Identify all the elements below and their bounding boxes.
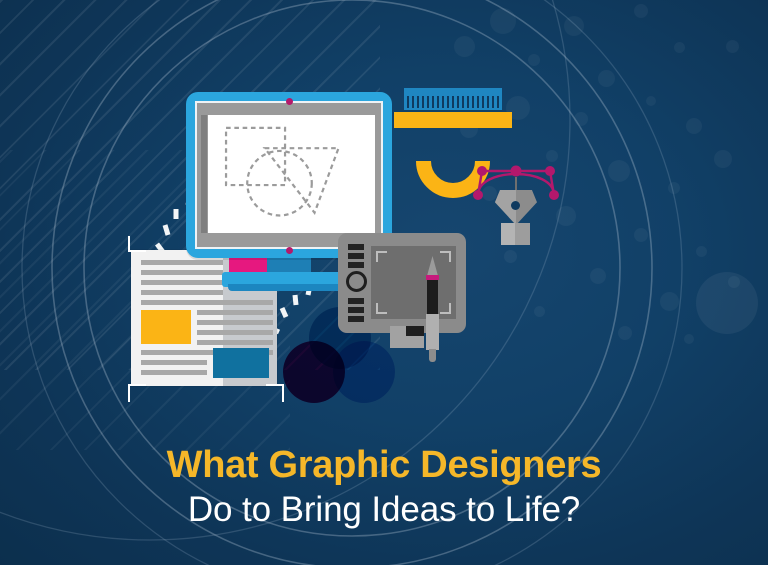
pen-tool — [466, 155, 566, 250]
monitor-screen — [195, 101, 383, 249]
pen-nib-hole — [511, 201, 520, 210]
graphics-tablet — [338, 233, 466, 333]
crop-mark-bottom-left — [128, 380, 150, 402]
stylus-pen — [424, 256, 441, 362]
tablet-port — [390, 326, 424, 348]
tablet-corner-bl — [376, 302, 388, 314]
tablet-button-group-top — [348, 244, 364, 271]
ruler-ticks — [407, 96, 499, 108]
document-block-teal — [213, 348, 269, 378]
canvas-vector-shapes — [208, 115, 375, 233]
poster-canvas: What Graphic Designers Do to Bring Ideas… — [0, 0, 768, 565]
monitor-stand — [222, 272, 356, 287]
cmyk-circle-blue — [333, 341, 395, 403]
ruler — [404, 88, 502, 110]
crop-mark-bottom-right — [262, 380, 284, 402]
tablet-drawing-area — [371, 246, 456, 319]
tablet-scroll-wheel — [346, 271, 367, 292]
title-line-1: What Graphic Designers — [0, 444, 768, 487]
stylus-body — [427, 280, 438, 314]
tablet-corner-tl — [376, 251, 388, 263]
monitor-canvas — [208, 115, 375, 233]
monitor-camera-dot — [286, 98, 293, 105]
stylus-tip — [427, 256, 438, 276]
tablet-shell — [338, 233, 466, 333]
stylus-grip — [426, 314, 439, 350]
poster-title: What Graphic Designers Do to Bring Ideas… — [0, 444, 768, 531]
tablet-button-group-bottom — [348, 298, 364, 325]
document-block-yellow — [141, 310, 191, 344]
monitor-toolbar-strip — [201, 115, 207, 233]
monitor-power-dot — [286, 247, 293, 254]
protractor-bar — [394, 112, 512, 128]
crop-mark-top-left — [128, 236, 150, 258]
pen-tool-base — [501, 223, 530, 245]
title-line-2: Do to Bring Ideas to Life? — [0, 489, 768, 531]
layout-document — [131, 250, 277, 386]
stylus-end — [429, 349, 436, 362]
